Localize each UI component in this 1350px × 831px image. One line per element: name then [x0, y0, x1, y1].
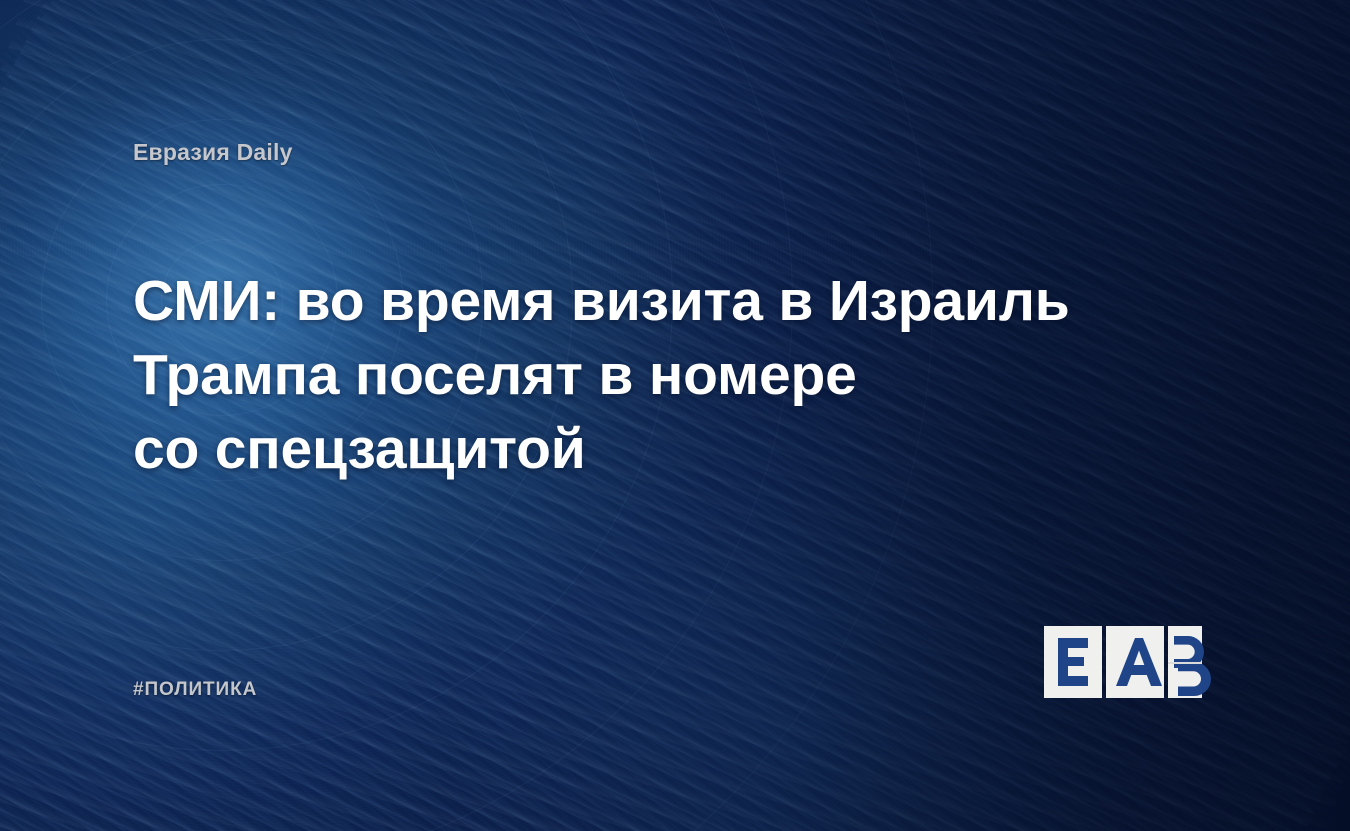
eadaily-logo[interactable]: [1044, 626, 1224, 698]
logo-letter-e: [1058, 638, 1088, 686]
page-title: СМИ: во время визита в Израиль Трампа по…: [133, 264, 1093, 486]
headline-line-1: СМИ: во время визита в Израиль: [133, 264, 1093, 338]
category-hashtag[interactable]: #ПОЛИТИКА: [133, 679, 257, 701]
headline-line-3: со спецзащитой: [133, 412, 1093, 486]
eadaily-logo-icon: [1044, 626, 1224, 698]
site-brand-name: Евразия Daily: [133, 139, 293, 166]
social-share-card: Евразия Daily СМИ: во время визита в Изр…: [0, 0, 1350, 831]
headline-line-2: Трампа поселят в номере: [133, 338, 1093, 412]
